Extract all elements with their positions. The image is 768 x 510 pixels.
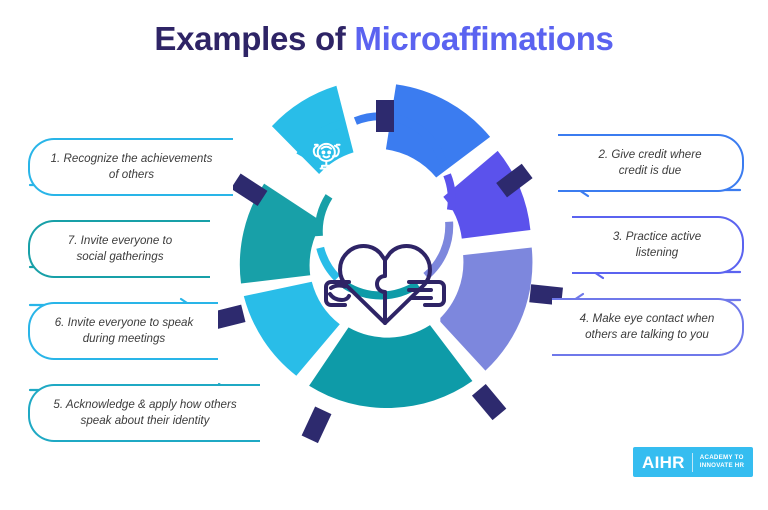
- callout-3-line2: listening: [613, 245, 701, 261]
- infographic-canvas: Examples of Microaffimations: [0, 0, 768, 510]
- callout-4-line2: others are talking to you: [580, 327, 715, 343]
- page-title-part1: Examples of: [154, 20, 354, 57]
- identity-scan-icon: [558, 474, 583, 478]
- callout-2-line1: 2. Give credit where: [598, 147, 701, 163]
- wheel-wedges: [240, 84, 533, 408]
- callout-3-line1: 3. Practice active: [613, 229, 701, 245]
- inner-arc-7: [319, 196, 329, 236]
- callout-4-line1: 4. Make eye contact when: [580, 311, 715, 327]
- callout-6-line2: during meetings: [55, 331, 194, 347]
- callout-4[interactable]: 4. Make eye contact when others are talk…: [552, 298, 744, 356]
- callout-7[interactable]: 7. Invite everyone to social gatherings: [28, 220, 210, 278]
- callout-5[interactable]: 5. Acknowledge & apply how others speak …: [28, 384, 260, 442]
- callout-3[interactable]: 3. Practice active listening: [572, 216, 744, 274]
- wheel-wedge-4[interactable]: [439, 248, 533, 371]
- wheel-wedge-5[interactable]: [309, 325, 472, 408]
- callout-6[interactable]: 6. Invite everyone to speak during meeti…: [28, 302, 218, 360]
- wheel-wedge-3[interactable]: [443, 151, 530, 239]
- callout-5-line1: 5. Acknowledge & apply how others: [53, 397, 236, 413]
- callout-1[interactable]: 1. Recognize the achievements of others: [28, 138, 233, 196]
- logo-tagline-line1: ACADEMY TO: [700, 454, 744, 462]
- aihr-logo[interactable]: AIHR ACADEMY TO INNOVATE HR: [633, 447, 753, 477]
- separator-block-5: [302, 407, 332, 444]
- handshake-heart-icon: [407, 191, 432, 215]
- callout-5-line2: speak about their identity: [53, 413, 236, 429]
- logo-tagline-line2: INNOVATE HR: [700, 462, 744, 470]
- social-group-icon: [417, 297, 443, 323]
- logo-tagline: ACADEMY TO INNOVATE HR: [700, 454, 744, 471]
- group-meeting-icon: [443, 407, 470, 431]
- page-title-part2: Microaffimations: [354, 20, 613, 57]
- callout-1-line2: of others: [51, 167, 213, 183]
- inner-arc-3: [447, 175, 452, 210]
- callout-2-line2: credit is due: [598, 163, 701, 179]
- callout-1-line1: 1. Recognize the achievements: [51, 151, 213, 167]
- callout-2[interactable]: 2. Give credit where credit is due: [558, 134, 744, 192]
- inner-arc-6: [320, 248, 337, 278]
- callout-6-line1: 6. Invite everyone to speak: [55, 315, 194, 331]
- wheel-wedge-2[interactable]: [386, 84, 490, 177]
- logo-divider: [692, 453, 693, 472]
- callout-7-line2: social gatherings: [68, 249, 172, 265]
- page-title: Examples of Microaffimations: [0, 20, 768, 58]
- wheel-wedge-1[interactable]: [272, 86, 354, 174]
- logo-wordmark: AIHR: [642, 454, 685, 471]
- callout-7-line1: 7. Invite everyone to: [68, 233, 172, 249]
- separator-block-4: [472, 384, 506, 420]
- separator-block-1: [376, 100, 394, 132]
